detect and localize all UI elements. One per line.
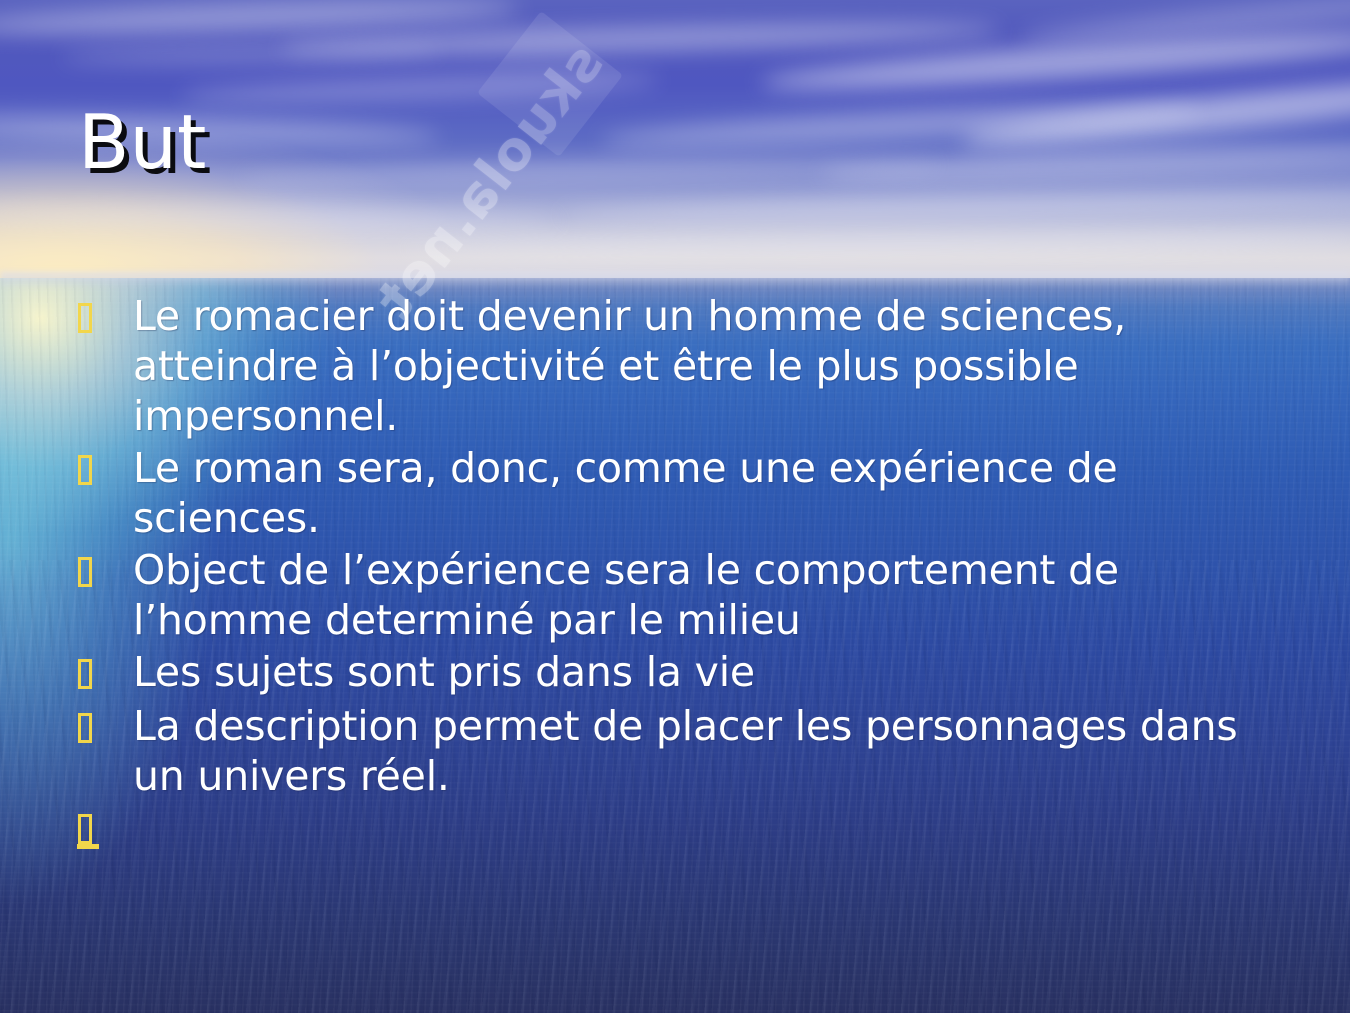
bullet-box-icon [78,545,133,594]
bullet-box-icon [78,443,133,492]
cloud-streak [0,0,520,40]
presentation-slide: skuola.net But Le romacier doit devenir … [0,0,1350,1013]
cloud-streak [760,24,1350,99]
list-item: Le romacier doit devenir un homme de sci… [78,291,1250,441]
cloud-streak [600,96,1201,153]
list-item-text: La description permet de placer les pers… [133,701,1250,801]
list-item: Object de l’expérience sera le comportem… [78,545,1250,645]
list-item-text: Le roman sera, donc, comme une expérienc… [133,443,1250,543]
cloud-streak [60,43,440,66]
bullet-box-icon [78,291,133,340]
cloud-streak [0,111,440,149]
cloud-streak [0,204,560,231]
list-item: Le roman sera, donc, comme une expérienc… [78,443,1250,543]
cloud-streak [400,231,1350,257]
bullet-box-icon-underlined [78,807,133,851]
bullet-box-icon [78,701,133,750]
list-item: La description permet de placer les pers… [78,701,1250,801]
list-item-text: Le romacier doit devenir un homme de sci… [133,291,1250,441]
cloud-streak [180,70,660,107]
bullet-list: Le romacier doit devenir un homme de sci… [78,291,1250,851]
bullet-box-icon [78,647,133,696]
list-item: Les sujets sont pris dans la vie [78,647,1250,697]
cloud-streak [280,19,1000,60]
list-item-text: Les sujets sont pris dans la vie [133,647,1250,697]
list-item-empty [78,807,1250,851]
cloud-streak [240,156,940,186]
cloud-streak [960,69,1350,157]
cloud-streak [820,141,1350,185]
cloud-streak [1020,0,1350,46]
cloud-streak [560,187,1350,225]
list-item-text: Object de l’expérience sera le comportem… [133,545,1250,645]
slide-title: But [78,100,206,184]
